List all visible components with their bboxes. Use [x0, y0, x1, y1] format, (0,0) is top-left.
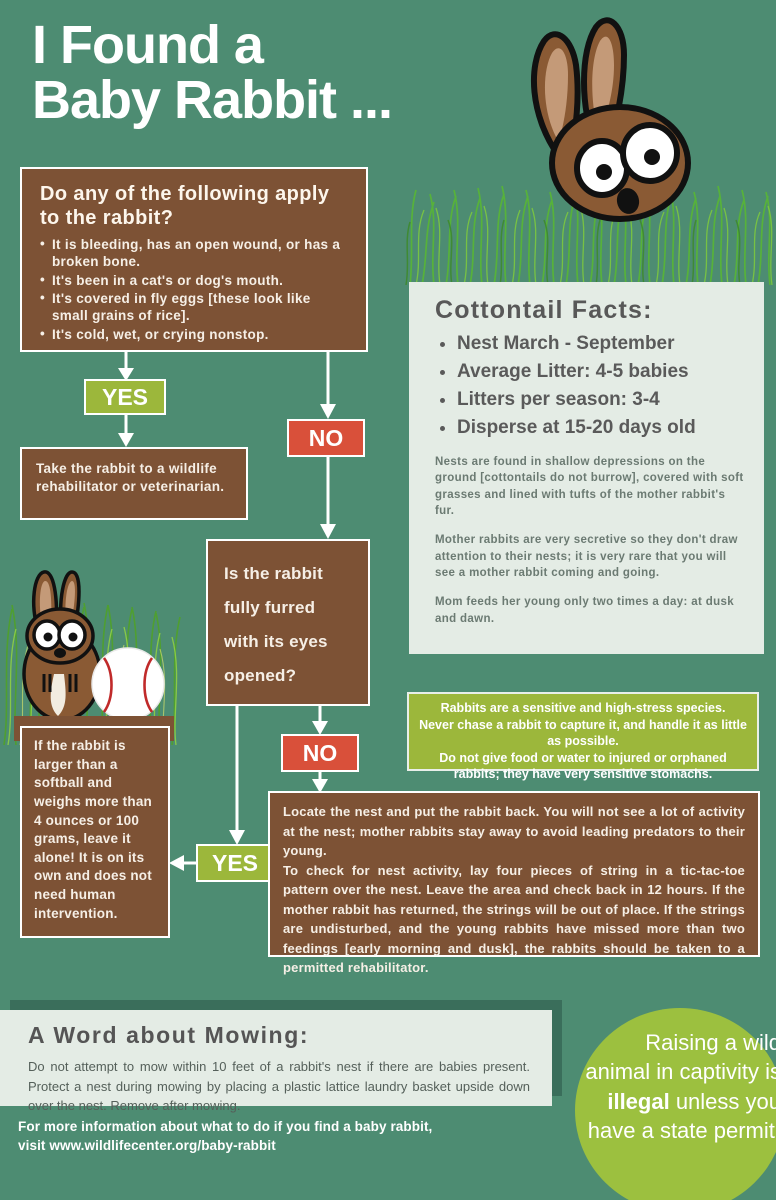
list-item: It is bleeding, has an open wound, or ha…: [40, 236, 350, 271]
list-item: Litters per season: 3-4: [457, 387, 744, 414]
legal-text-emphasis: illegal: [607, 1089, 669, 1114]
mowing-heading: A Word about Mowing:: [28, 1022, 530, 1049]
locate-paragraph-2: To check for nest activity, lay four pie…: [283, 861, 745, 978]
grass-top-right: [400, 150, 776, 285]
facts-paragraph-1: Nests are found in shallow depressions o…: [435, 454, 744, 519]
arrow-yes-to-rehab: [114, 414, 138, 448]
facts-heading: Cottontail Facts:: [435, 296, 744, 325]
list-item: It's covered in fly eggs [these look lik…: [40, 290, 350, 325]
question1-bullet-list: It is bleeding, has an open wound, or ha…: [40, 236, 350, 343]
facts-paragraph-2: Mother rabbits are very secretive so the…: [435, 532, 744, 581]
softball-size-box: If the rabbit is larger than a softball …: [20, 726, 170, 938]
page-title: I Found a Baby Rabbit ...: [32, 18, 502, 128]
question2-line-4: opened?: [224, 659, 352, 693]
arrow-q2-to-yes2: [225, 704, 249, 846]
arrow-q1-to-yes: [114, 350, 138, 382]
title-line-1: I Found a: [32, 15, 263, 75]
mowing-panel: A Word about Mowing: Do not attempt to m…: [0, 1010, 552, 1106]
mowing-body: Do not attempt to mow within 10 feet of …: [28, 1057, 530, 1116]
facts-paragraph-3: Mom feeds her young only two times a day…: [435, 594, 744, 627]
list-item: Average Litter: 4-5 babies: [457, 359, 744, 386]
badge-yes-2[interactable]: YES: [196, 844, 274, 882]
infographic-canvas: I Found a Baby Rabbit ... Do any of the …: [0, 0, 776, 1200]
sensitive-species-box: Rabbits are a sensitive and high-stress …: [407, 692, 759, 771]
cottontail-facts-panel: Cottontail Facts: Nest March - September…: [409, 282, 764, 654]
footer-line-2[interactable]: visit www.wildlifecenter.org/baby-rabbit: [18, 1136, 488, 1155]
rabbit-illustration-left: [14, 556, 174, 741]
question1-box: Do any of the following apply to the rab…: [20, 167, 368, 352]
list-item: It's been in a cat's or dog's mouth.: [40, 272, 350, 289]
list-item: It's cold, wet, or crying nonstop.: [40, 326, 350, 343]
question2-line-3: with its eyes: [224, 625, 352, 659]
badge-no-1[interactable]: NO: [287, 419, 365, 457]
question1-heading: Do any of the following apply to the rab…: [40, 183, 350, 230]
question2-line-2: fully furred: [224, 591, 352, 625]
locate-nest-box: Locate the nest and put the rabbit back.…: [268, 791, 760, 957]
footer-line-1: For more information about what to do if…: [18, 1117, 488, 1136]
sensitive-line-2: Never chase a rabbit to capture it, and …: [419, 717, 747, 750]
question2-box: Is the rabbit fully furred with its eyes…: [206, 539, 370, 706]
rabbit-illustration-top: [510, 5, 730, 235]
legal-text-part1: Raising a wild animal in captivity is: [585, 1030, 776, 1084]
sensitive-line-3: Do not give food or water to injured or …: [419, 750, 747, 783]
list-item: Disperse at 15-20 days old: [457, 415, 744, 442]
arrow-q1-to-no: [316, 350, 340, 420]
footer-note: For more information about what to do if…: [18, 1117, 488, 1155]
locate-paragraph-1: Locate the nest and put the rabbit back.…: [283, 802, 745, 861]
legal-notice-text: Raising a wild animal in captivity is il…: [585, 1028, 776, 1146]
question2-line-1: Is the rabbit: [224, 557, 352, 591]
rehabilitator-box: Take the rabbit to a wildlife rehabilita…: [20, 447, 248, 520]
arrow-q2-to-no2: [308, 704, 332, 736]
badge-yes-1[interactable]: YES: [84, 379, 166, 415]
arrow-no-to-q2: [316, 456, 340, 540]
title-line-2: Baby Rabbit ...: [32, 73, 502, 128]
sensitive-line-1: Rabbits are a sensitive and high-stress …: [419, 700, 747, 717]
grass-left: [0, 545, 185, 745]
badge-no-2[interactable]: NO: [281, 734, 359, 772]
facts-bullet-list: Nest March - September Average Litter: 4…: [435, 331, 744, 442]
list-item: Nest March - September: [457, 331, 744, 358]
